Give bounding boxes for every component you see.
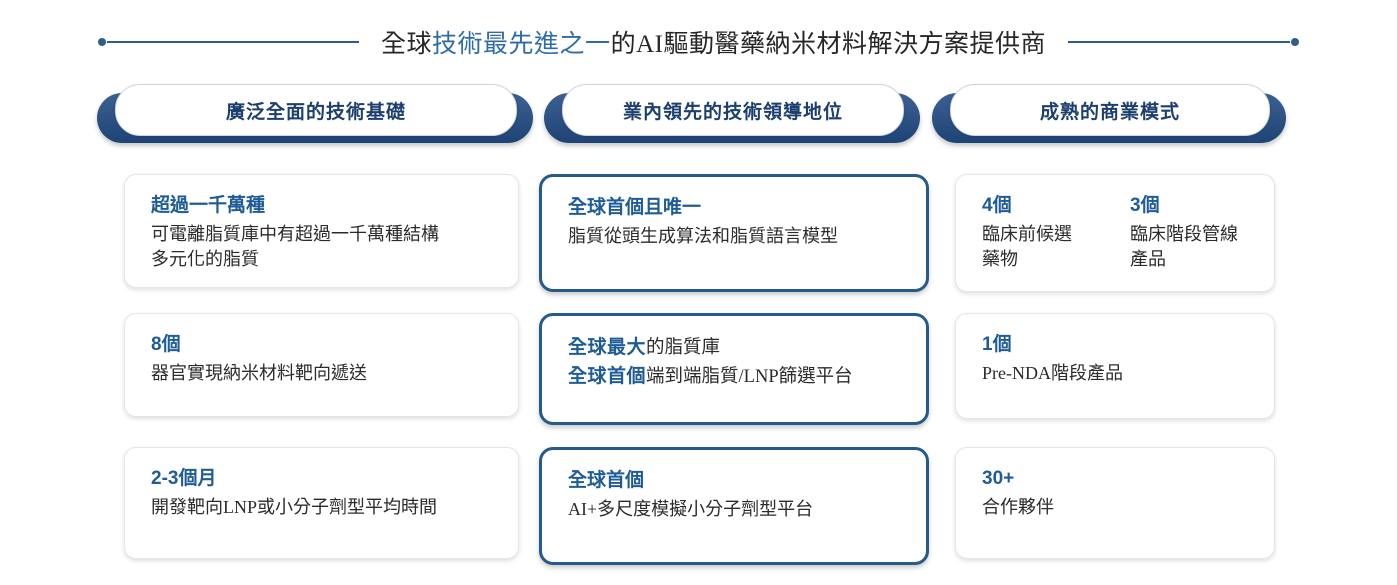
pill-face: 成熟的商業模式 <box>950 84 1270 136</box>
stat-card[interactable]: 超過一千萬種 可電離脂質庫中有超過一千萬種結構 多元化的脂質 <box>124 174 519 288</box>
stat-card[interactable]: 30+ 合作夥伴 <box>955 447 1275 559</box>
card-grid: 超過一千萬種 可電離脂質庫中有超過一千萬種結構 多元化的脂質 8個 器官實現納米… <box>0 174 1397 574</box>
stat-mixed-bold: 全球最大 <box>568 337 646 358</box>
stat-description-line: 多元化的脂質 <box>151 247 492 273</box>
stat-headline: 8個 <box>151 332 492 358</box>
headline-row: 全球技術最先進之一的AI驅動醫藥納米材料解決方案提供商 <box>0 22 1397 62</box>
pill-face: 廣泛全面的技術基礎 <box>115 84 517 136</box>
stat-pair: 4個 臨床前候選 藥物 3個 臨床階段管線 產品 <box>982 193 1248 273</box>
stat-mixed-rest: 的脂質庫 <box>646 338 720 358</box>
page-title-prefix: 全球 <box>381 31 432 58</box>
page-title: 全球技術最先進之一的AI驅動醫藥納米材料解決方案提供商 <box>381 24 1046 60</box>
column-technology-leadership: 全球首個且唯一 脂質從頭生成算法和脂質語言模型 全球最大的脂質庫 全球首個端到端… <box>539 174 929 559</box>
stat-mixed-bold: 全球首個 <box>568 366 646 387</box>
right-rule-decoration <box>1068 37 1299 47</box>
column-technology-foundation: 超過一千萬種 可電離脂質庫中有超過一千萬種結構 多元化的脂質 8個 器官實現納米… <box>124 174 519 559</box>
stat-card[interactable]: 2-3個月 開發靶向LNP或小分子劑型平均時間 <box>124 447 519 559</box>
stat-description-line: 脂質從頭生成算法和脂質語言模型 <box>568 224 900 250</box>
stat-description-line: 臨床階段管線 <box>1130 222 1238 248</box>
stat-description-line: 可電離脂質庫中有超過一千萬種結構 <box>151 222 492 248</box>
column-business-model: 4個 臨床前候選 藥物 3個 臨床階段管線 產品 1個 Pre-NDA階段產品 … <box>955 174 1275 559</box>
stat-cell: 4個 臨床前候選 藥物 <box>982 193 1086 273</box>
left-rule-bar <box>107 41 359 43</box>
page-title-suffix: 的AI驅動醫藥納米材料解決方案提供商 <box>611 31 1046 58</box>
stat-headline: 2-3個月 <box>151 466 492 492</box>
stat-description-line: 臨床前候選 <box>982 222 1086 248</box>
stat-description-line: 合作夥伴 <box>982 495 1248 521</box>
infographic-slide: 全球技術最先進之一的AI驅動醫藥納米材料解決方案提供商 廣泛全面的技術基礎 業內… <box>0 0 1397 585</box>
stat-description-line: 產品 <box>1130 247 1238 273</box>
pill-business-model[interactable]: 成熟的商業模式 <box>950 84 1268 136</box>
right-rule-dot-icon <box>1291 38 1299 46</box>
stat-card[interactable]: 全球首個且唯一 脂質從頭生成算法和脂質語言模型 <box>539 174 929 292</box>
right-rule-bar <box>1068 41 1290 43</box>
pill-technology-foundation[interactable]: 廣泛全面的技術基礎 <box>115 84 515 136</box>
stat-description-line: 藥物 <box>982 247 1086 273</box>
stat-headline: 4個 <box>982 193 1086 219</box>
pill-label: 業內領先的技術領導地位 <box>623 97 843 124</box>
pill-technology-leadership[interactable]: 業內領先的技術領導地位 <box>562 84 902 136</box>
stat-description-line: 器官實現納米材料靶向遞送 <box>151 361 492 387</box>
stat-card[interactable]: 全球最大的脂質庫 全球首個端到端脂質/LNP篩選平台 <box>539 313 929 425</box>
stat-headline: 超過一千萬種 <box>151 193 492 219</box>
left-rule-decoration <box>98 37 359 47</box>
stat-description-line: Pre-NDA階段產品 <box>982 361 1248 387</box>
stat-description-line: AI+多尺度模擬小分子劑型平台 <box>568 497 900 523</box>
pill-label: 廣泛全面的技術基礎 <box>226 97 406 124</box>
pill-face: 業內領先的技術領導地位 <box>562 84 904 136</box>
stat-headline: 30+ <box>982 466 1248 492</box>
stat-headline: 全球首個且唯一 <box>568 195 900 221</box>
pill-label: 成熟的商業模式 <box>1040 97 1180 124</box>
stat-headline: 3個 <box>1130 193 1238 219</box>
stat-card[interactable]: 4個 臨床前候選 藥物 3個 臨床階段管線 產品 <box>955 174 1275 292</box>
stat-mixed-line: 全球首個端到端脂質/LNP篩選平台 <box>568 363 900 392</box>
stat-card[interactable]: 全球首個 AI+多尺度模擬小分子劑型平台 <box>539 447 929 565</box>
stat-card[interactable]: 1個 Pre-NDA階段產品 <box>955 313 1275 419</box>
stat-mixed-rest: 端到端脂質/LNP篩選平台 <box>646 367 853 387</box>
stat-description-line: 開發靶向LNP或小分子劑型平均時間 <box>151 495 492 521</box>
stat-headline: 1個 <box>982 332 1248 358</box>
stat-headline: 全球首個 <box>568 468 900 494</box>
page-title-highlight: 技術最先進之一 <box>432 31 611 58</box>
stat-card[interactable]: 8個 器官實現納米材料靶向遞送 <box>124 313 519 417</box>
pill-header-row: 廣泛全面的技術基礎 業內領先的技術領導地位 成熟的商業模式 <box>0 84 1397 146</box>
stat-mixed-line: 全球最大的脂質庫 <box>568 334 900 363</box>
left-rule-dot-icon <box>98 38 106 46</box>
stat-cell: 3個 臨床階段管線 產品 <box>1130 193 1238 273</box>
